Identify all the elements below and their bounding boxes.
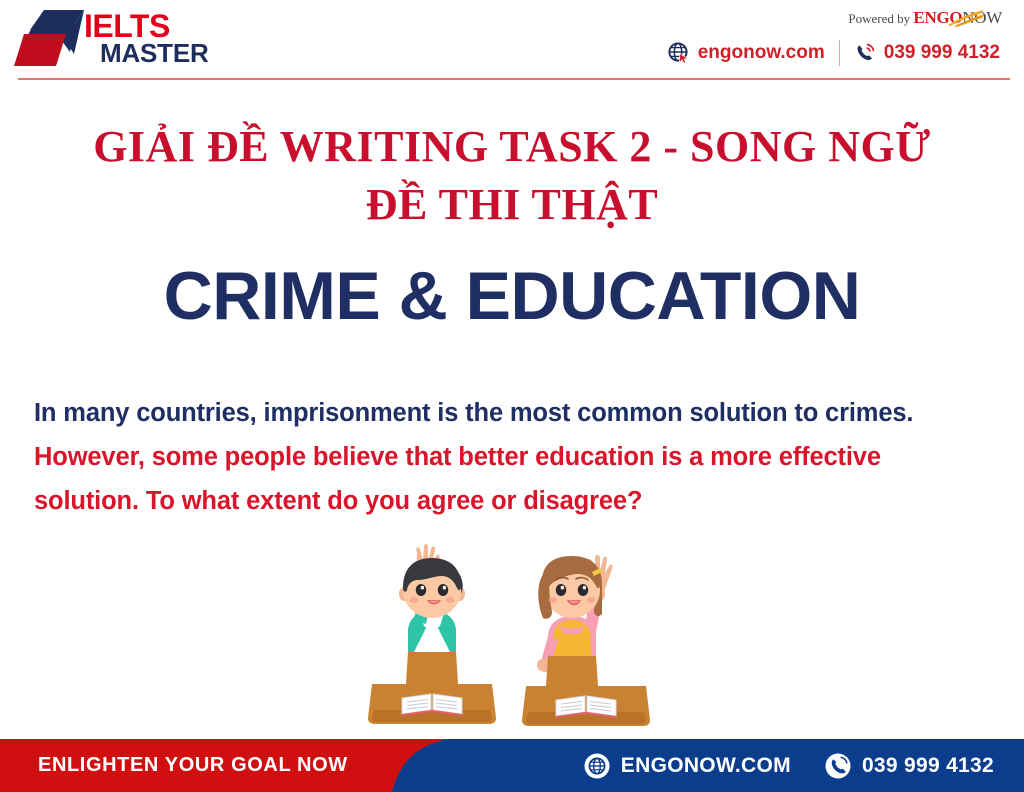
title-line-2: ĐỀ THI THẬT <box>0 176 1024 234</box>
page-header: IELTS MASTER Powered by ENGONOW engonow.… <box>0 0 1024 84</box>
brand-logo[interactable]: IELTS MASTER <box>14 6 244 72</box>
footer-contact-row: ENGONOW.COM 039 999 4132 <box>584 739 994 792</box>
essay-question: In many countries, imprisonment is the m… <box>34 392 984 524</box>
two-students-raising-hands-illustration <box>362 532 662 738</box>
globe-icon <box>584 753 610 779</box>
stacked-pages-logo-icon <box>14 8 86 70</box>
girl-figure <box>537 555 613 672</box>
globe-cursor-icon <box>668 42 690 64</box>
boy-figure <box>399 544 465 662</box>
header-divider <box>18 78 1010 80</box>
page-footer: ENLIGHTEN YOUR GOAL NOW ENGONOW.COM 039 … <box>0 739 1024 792</box>
logo-wordmark: IELTS MASTER <box>84 12 209 66</box>
header-website-link[interactable]: engonow.com <box>668 42 825 64</box>
question-red-text: However, some people believe that better… <box>34 443 881 515</box>
page-title-vietnamese: GIẢI ĐỀ WRITING TASK 2 - SONG NGỮ ĐỀ THI… <box>0 118 1024 234</box>
footer-phone-label: 039 999 4132 <box>862 754 994 778</box>
footer-slogan: ENLIGHTEN YOUR GOAL NOW <box>38 739 348 792</box>
logo-secondary-text: MASTER <box>100 42 209 66</box>
swoosh-icon <box>946 9 986 27</box>
footer-website-link[interactable]: ENGONOW.COM <box>584 753 791 779</box>
logo-primary-text: IELTS <box>84 12 209 41</box>
phone-icon <box>825 753 851 779</box>
header-phone-label: 039 999 4132 <box>884 42 1000 64</box>
header-phone-link[interactable]: 039 999 4132 <box>854 42 1000 64</box>
footer-phone-link[interactable]: 039 999 4132 <box>825 753 994 779</box>
page-title-topic: CRIME & EDUCATION <box>0 262 1024 330</box>
title-line-1: GIẢI ĐỀ WRITING TASK 2 - SONG NGỮ <box>0 118 1024 176</box>
header-website-label: engonow.com <box>698 42 825 64</box>
header-contact-divider <box>839 40 840 66</box>
boy-desk <box>368 652 496 724</box>
header-contact-row: engonow.com 039 999 4132 <box>668 40 1000 66</box>
question-navy-text: In many countries, imprisonment is the m… <box>34 399 913 427</box>
powered-by-engonow: Powered by ENGONOW <box>848 8 1002 28</box>
powered-by-prefix: Powered by <box>848 11 913 26</box>
footer-website-label: ENGONOW.COM <box>621 754 791 778</box>
phone-icon <box>854 42 876 64</box>
